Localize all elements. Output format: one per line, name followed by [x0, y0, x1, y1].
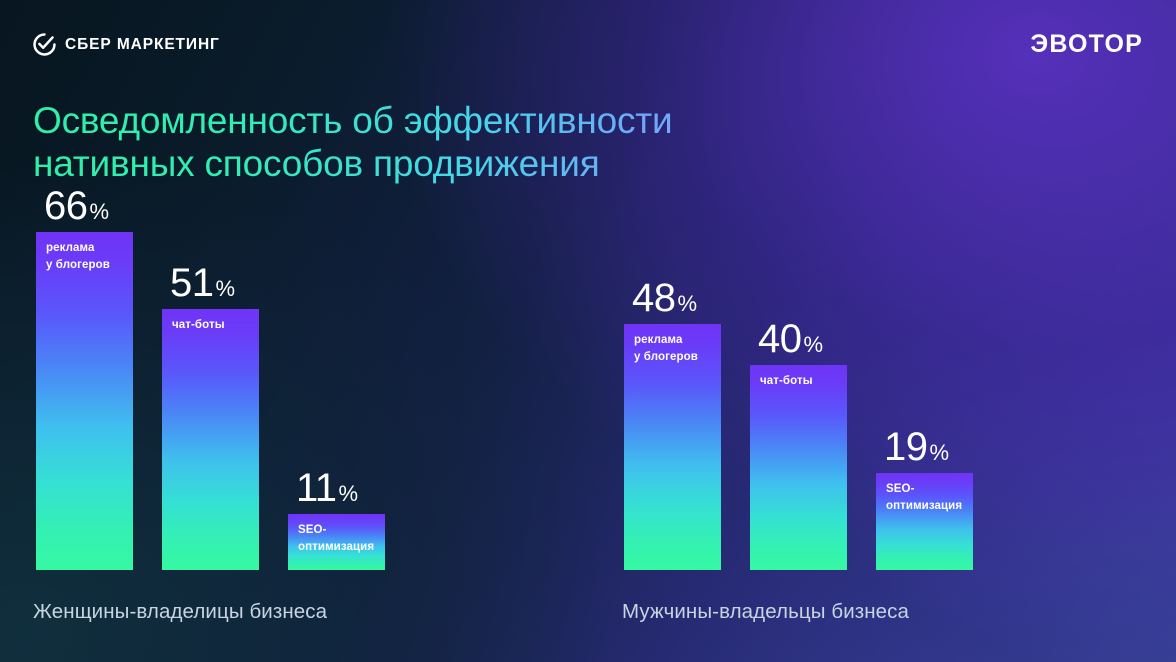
bar-gradient-fill — [36, 232, 133, 570]
bar-series-label-line: чат-боты — [172, 317, 253, 334]
bar-series-label-line: оптимизация — [298, 539, 379, 556]
bar-column: SEO-оптимизация11% — [288, 514, 385, 570]
bar-series-label-line: SEO- — [298, 522, 379, 539]
bar-series-label-line: чат-боты — [760, 373, 841, 390]
bar-value-percent-sign: % — [678, 293, 698, 315]
bar-value-percent-sign: % — [216, 278, 236, 300]
bar-value-label: 19% — [884, 427, 949, 467]
bar-column: SEO-оптимизация19% — [876, 473, 973, 570]
bar-value-number: 48 — [632, 278, 676, 318]
bar-series-label-line: реклама — [634, 332, 715, 349]
bar-chart: рекламау блогеров66%чат-боты51%SEO-оптим… — [0, 0, 1176, 662]
bar-rect: рекламау блогеров — [36, 232, 133, 570]
bar-value-number: 51 — [170, 263, 214, 303]
bar-gradient-fill — [162, 309, 259, 570]
group-category-label: Мужчины-владельцы бизнеса — [622, 602, 909, 623]
bar-value-percent-sign: % — [930, 442, 950, 464]
bar-series-label: рекламау блогеров — [46, 240, 127, 273]
bar-rect: чат-боты — [750, 365, 847, 570]
bar-column: рекламау блогеров66% — [36, 232, 133, 570]
bar-series-label-line: реклама — [46, 240, 127, 257]
bar-column: чат-боты51% — [162, 309, 259, 570]
bar-rect: SEO-оптимизация — [288, 514, 385, 570]
bar-rect: SEO-оптимизация — [876, 473, 973, 570]
bar-series-label: чат-боты — [172, 317, 253, 334]
bar-value-percent-sign: % — [804, 334, 824, 356]
slide-canvas: СБЕР МАРКЕТИНГ ЭВОТОР Осведомленность об… — [0, 0, 1176, 662]
bar-series-label: чат-боты — [760, 373, 841, 390]
bar-value-label: 66% — [44, 186, 109, 226]
bar-gradient-fill — [750, 365, 847, 570]
bar-value-label: 48% — [632, 278, 697, 318]
group-category-label: Женщины-владелицы бизнеса — [33, 602, 327, 623]
bar-value-label: 11% — [296, 468, 358, 508]
bar-value-number: 66 — [44, 186, 88, 226]
bar-value-number: 19 — [884, 427, 928, 467]
bar-series-label-line: у блогеров — [46, 257, 127, 274]
bar-series-label-line: SEO- — [886, 481, 967, 498]
bar-rect: чат-боты — [162, 309, 259, 570]
bar-value-number: 11 — [296, 468, 337, 508]
bar-series-label-line: у блогеров — [634, 349, 715, 366]
bar-column: чат-боты40% — [750, 365, 847, 570]
bar-value-label: 40% — [758, 319, 823, 359]
bar-value-percent-sign: % — [90, 201, 110, 223]
bar-value-percent-sign: % — [339, 483, 359, 505]
bar-value-number: 40 — [758, 319, 802, 359]
bar-value-label: 51% — [170, 263, 235, 303]
bar-column: рекламау блогеров48% — [624, 324, 721, 570]
bar-series-label: рекламау блогеров — [634, 332, 715, 365]
bar-series-label-line: оптимизация — [886, 498, 967, 515]
bar-series-label: SEO-оптимизация — [298, 522, 379, 555]
bar-series-label: SEO-оптимизация — [886, 481, 967, 514]
bar-rect: рекламау блогеров — [624, 324, 721, 570]
